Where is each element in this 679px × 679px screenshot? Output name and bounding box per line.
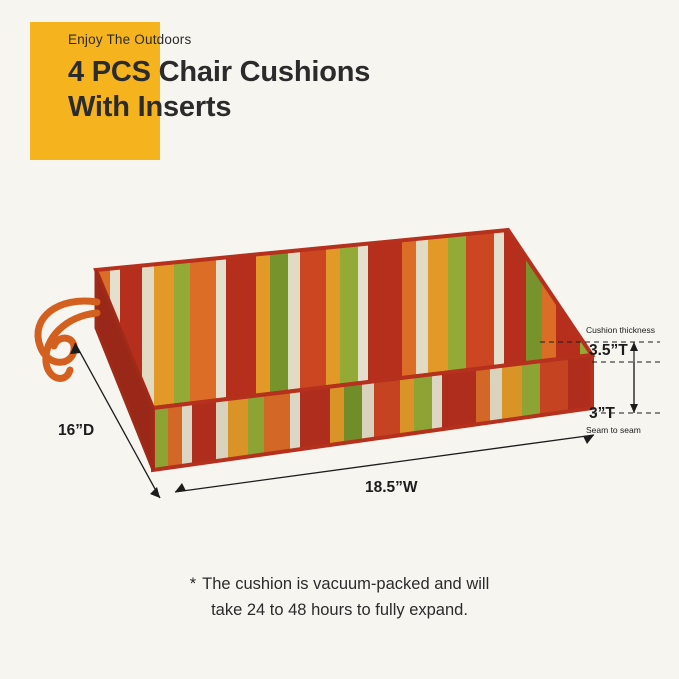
page-title: 4 PCS Chair Cushions With Inserts — [68, 55, 588, 126]
thickness-caption: Cushion thickness — [586, 325, 655, 335]
cushion-diagram: 16”D 18.5”W Cushion thickness 3.5”T 3”T … — [0, 170, 679, 550]
headline-line-2: With Inserts — [68, 90, 588, 125]
seam-label: 3”T — [589, 405, 615, 422]
footnote-line-1: *The cushion is vacuum-packed and will — [0, 572, 679, 598]
header-text-group: Enjoy The Outdoors 4 PCS Chair Cushions … — [68, 32, 588, 126]
seam-caption: Seam to seam — [586, 425, 641, 435]
eyebrow-text: Enjoy The Outdoors — [68, 32, 588, 47]
footnote-line-2: take 24 to 48 hours to fully expand. — [0, 598, 679, 624]
footnote-group: *The cushion is vacuum-packed and will t… — [0, 572, 679, 623]
thickness-label: 3.5”T — [589, 342, 628, 359]
product-illustration: 16”D 18.5”W Cushion thickness 3.5”T 3”T … — [0, 170, 679, 550]
asterisk-icon: * — [190, 572, 196, 598]
depth-label: 16”D — [58, 422, 94, 439]
width-label: 18.5”W — [365, 479, 418, 496]
headline-line-1: 4 PCS Chair Cushions — [68, 55, 588, 90]
footnote-text-1: The cushion is vacuum-packed and will — [202, 575, 489, 593]
